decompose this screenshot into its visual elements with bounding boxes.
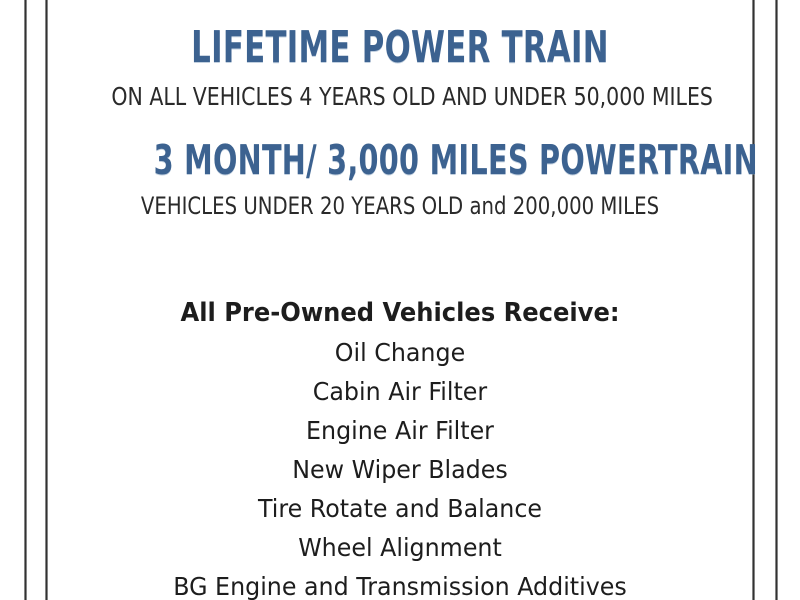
list-item: New Wiper Blades: [66, 457, 735, 482]
included-services-heading: All Pre-Owned Vehicles Receive:: [73, 300, 728, 326]
page-rule-outer-right: [775, 0, 778, 600]
offer-2-headline: 3 MONTH/ 3,000 MILES POWERTRAIN: [154, 140, 647, 181]
included-services-block: All Pre-Owned Vehicles Receive: Oil Chan…: [48, 300, 752, 600]
list-item: BG Engine and Transmission Additives: [66, 574, 735, 599]
list-item: Engine Air Filter: [66, 418, 735, 443]
flyer-content: LIFETIME POWER TRAIN ON ALL VEHICLES 4 Y…: [48, 0, 752, 600]
page-rule-outer-left: [24, 0, 27, 600]
list-item: Wheel Alignment: [66, 535, 735, 560]
flyer-page: LIFETIME POWER TRAIN ON ALL VEHICLES 4 Y…: [0, 0, 800, 600]
offer-2-subhead: VEHICLES UNDER 20 YEARS OLD and 200,000 …: [111, 194, 688, 218]
offer-1-headline: LIFETIME POWER TRAIN: [154, 26, 647, 70]
list-item: Tire Rotate and Balance: [66, 496, 735, 521]
offer-1-subhead: ON ALL VEHICLES 4 YEARS OLD AND UNDER 50…: [111, 84, 688, 109]
list-item: Cabin Air Filter: [66, 379, 735, 404]
list-item: Oil Change: [66, 340, 735, 365]
page-rule-inner-right: [752, 0, 755, 600]
included-services-list: Oil Change Cabin Air Filter Engine Air F…: [48, 340, 752, 599]
